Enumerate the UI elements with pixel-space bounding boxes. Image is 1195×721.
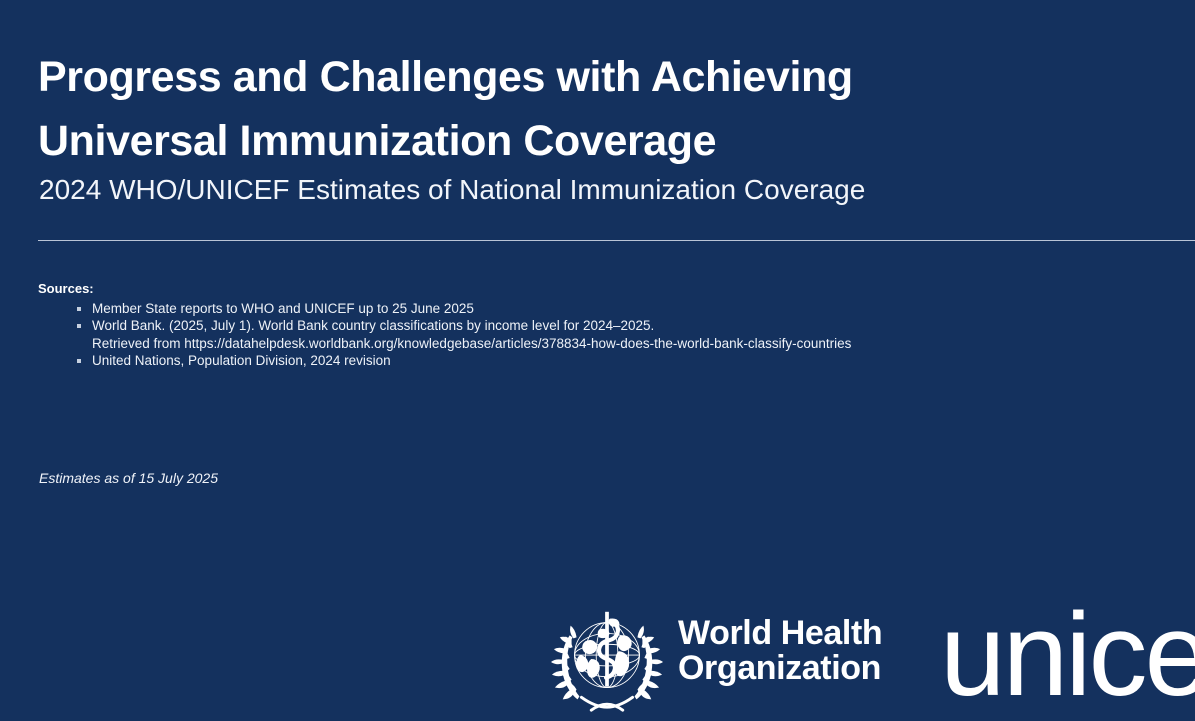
sources-list: Member State reports to WHO and UNICEF u… bbox=[38, 301, 1148, 370]
who-wordmark-line-2: Organization bbox=[678, 651, 882, 686]
sources-section: Sources: Member State reports to WHO and… bbox=[38, 280, 1148, 370]
square-bullet-icon bbox=[77, 359, 81, 363]
page-title-line-2: Universal Immunization Coverage bbox=[38, 109, 1038, 174]
source-text-line-1: United Nations, Population Division, 202… bbox=[92, 353, 1148, 369]
header-divider bbox=[38, 240, 1195, 241]
page-title-line-1: Progress and Challenges with Achieving bbox=[38, 45, 1038, 110]
list-item: Member State reports to WHO and UNICEF u… bbox=[38, 301, 1148, 317]
who-wordmark-line-1: World Health bbox=[678, 616, 882, 651]
page-subtitle: 2024 WHO/UNICEF Estimates of National Im… bbox=[39, 172, 865, 208]
unicef-wordmark: unicef bbox=[940, 599, 1195, 711]
list-item: World Bank. (2025, July 1). World Bank c… bbox=[38, 318, 1148, 352]
square-bullet-icon bbox=[77, 324, 81, 328]
who-logo: World Health Organization bbox=[548, 600, 882, 718]
unicef-logo: unicef ® bbox=[940, 599, 1195, 719]
title-slide: Progress and Challenges with Achieving U… bbox=[0, 0, 1195, 721]
source-url-line[interactable]: Retrieved from https://datahelpdesk.worl… bbox=[92, 336, 1148, 352]
who-emblem-icon bbox=[548, 600, 666, 718]
source-text-line-1: Member State reports to WHO and UNICEF u… bbox=[92, 301, 1148, 317]
list-item: United Nations, Population Division, 202… bbox=[38, 353, 1148, 369]
sources-label: Sources: bbox=[38, 280, 1148, 298]
who-wordmark: World Health Organization bbox=[678, 616, 882, 702]
footer-logos: World Health Organization unicef ® bbox=[0, 581, 1195, 721]
source-text-line-1: World Bank. (2025, July 1). World Bank c… bbox=[92, 318, 1148, 334]
square-bullet-icon bbox=[77, 307, 81, 311]
page-title: Progress and Challenges with Achieving U… bbox=[38, 45, 1038, 174]
estimates-as-of-note: Estimates as of 15 July 2025 bbox=[39, 469, 218, 487]
